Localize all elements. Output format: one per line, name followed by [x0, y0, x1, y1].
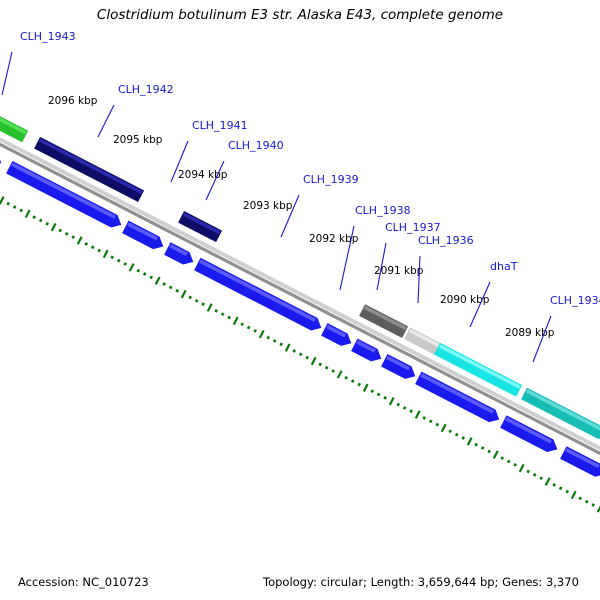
- gc-tick-dot: [541, 477, 542, 479]
- gc-tick-dot: [144, 273, 145, 275]
- gc-tick-dot: [333, 370, 334, 372]
- gc-tick-dot: [463, 437, 464, 439]
- gc-tick-dot: [164, 283, 165, 285]
- coordinate-label: 2094 kbp: [178, 169, 228, 181]
- gc-tick-dot: [424, 417, 425, 419]
- gc-tick-dot: [229, 316, 230, 318]
- gc-tick-dot: [300, 353, 301, 355]
- gc-tick-dot: [92, 246, 93, 248]
- gc-tick-dot: [216, 310, 217, 312]
- gc-tick-dot: [170, 286, 171, 288]
- gc-tick-dot: [73, 236, 74, 238]
- coordinate-label: 2089 kbp: [505, 327, 555, 339]
- gc-tick-dot: [307, 356, 308, 358]
- gc-tick-dot: [437, 423, 438, 425]
- gene-label-dhaT[interactable]: dhaT: [490, 260, 518, 273]
- gc-tick-dot: [138, 269, 139, 271]
- gc-tick-dot: [177, 289, 178, 291]
- gc-tick-dot: [21, 209, 22, 211]
- gc-tick-dot: [554, 484, 555, 486]
- gene-label-CLH_1938[interactable]: CLH_1938: [355, 204, 411, 217]
- gc-tick-dot: [508, 460, 509, 462]
- gc-tick-dot: [398, 403, 399, 405]
- gc-tick-dot: [378, 393, 379, 395]
- gc-tick-dot: [450, 430, 451, 432]
- gc-tick-dot: [346, 377, 347, 379]
- gc-tick-dot: [190, 296, 191, 298]
- gc-tick-dot: [66, 233, 67, 235]
- gc-tick-dot: [534, 474, 535, 476]
- gc-tick-dot: [34, 216, 35, 218]
- gc-tick-dot: [151, 276, 152, 278]
- gc-tick-dot: [580, 497, 581, 499]
- gene-label-CLH_1943[interactable]: CLH_1943: [20, 30, 76, 43]
- gc-tick-dot: [489, 450, 490, 452]
- gc-tick-dot: [560, 487, 561, 489]
- gc-tick-dot: [268, 336, 269, 338]
- gc-tick-dot: [456, 433, 457, 435]
- page-title: Clostridium botulinum E3 str. Alaska E43…: [97, 7, 503, 23]
- gc-tick-dot: [385, 397, 386, 399]
- genome-diagram: Clostridium botulinum E3 str. Alaska E43…: [0, 0, 600, 600]
- gc-tick-dot: [281, 343, 282, 345]
- gc-tick-dot: [47, 223, 48, 225]
- coordinate-label: 2096 kbp: [48, 95, 98, 107]
- gc-tick-dot: [255, 330, 256, 332]
- gc-tick-dot: [99, 249, 100, 251]
- gene-label-CLH_1939[interactable]: CLH_1939: [303, 173, 359, 186]
- gc-tick-dot: [86, 243, 87, 245]
- gc-tick-dot: [60, 229, 61, 231]
- gene-label-CLH_1937[interactable]: CLH_1937: [385, 221, 441, 234]
- gc-tick-dot: [294, 350, 295, 352]
- gc-tick-dot: [593, 504, 594, 506]
- gene-label-CLH_1934[interactable]: CLH_1934: [550, 294, 600, 307]
- gc-tick-dot: [196, 300, 197, 302]
- gc-tick-dot: [118, 259, 119, 261]
- gc-tick-dot: [248, 326, 249, 328]
- gc-tick-dot: [404, 407, 405, 409]
- gc-tick-dot: [567, 490, 568, 492]
- gc-tick-dot: [586, 500, 587, 502]
- gene-label-CLH_1941[interactable]: CLH_1941: [192, 119, 248, 132]
- gene-label-CLH_1936[interactable]: CLH_1936: [418, 234, 474, 247]
- gc-tick-dot: [125, 263, 126, 265]
- coordinate-label: 2093 kbp: [243, 200, 293, 212]
- gc-tick-dot: [352, 380, 353, 382]
- gene-label-CLH_1942[interactable]: CLH_1942: [118, 83, 174, 96]
- coordinate-label: 2095 kbp: [113, 134, 163, 146]
- gc-tick-dot: [203, 303, 204, 305]
- gc-tick-dot: [411, 410, 412, 412]
- gc-tick-dot: [359, 383, 360, 385]
- gc-tick-dot: [242, 323, 243, 325]
- genome-map-canvas: Clostridium botulinum E3 str. Alaska E43…: [0, 0, 600, 600]
- gc-tick-dot: [326, 366, 327, 368]
- gc-tick-dot: [515, 464, 516, 466]
- gc-tick-dot: [320, 363, 321, 365]
- gc-tick-dot: [8, 202, 9, 204]
- gc-tick-dot: [112, 256, 113, 258]
- genome-stats-label: Topology: circular; Length: 3,659,644 bp…: [262, 575, 579, 589]
- gc-tick-dot: [40, 219, 41, 221]
- gc-tick-dot: [372, 390, 373, 392]
- gc-tick-dot: [430, 420, 431, 422]
- accession-label: Accession: NC_010723: [18, 575, 149, 589]
- gc-tick-dot: [482, 447, 483, 449]
- gc-tick-dot: [476, 443, 477, 445]
- gc-tick-dot: [14, 206, 15, 208]
- gene-label-CLH_1940[interactable]: CLH_1940: [228, 139, 284, 152]
- gc-tick-dot: [528, 470, 529, 472]
- gc-tick-dot: [222, 313, 223, 315]
- gc-tick-dot: [502, 457, 503, 459]
- gc-tick-dot: [274, 340, 275, 342]
